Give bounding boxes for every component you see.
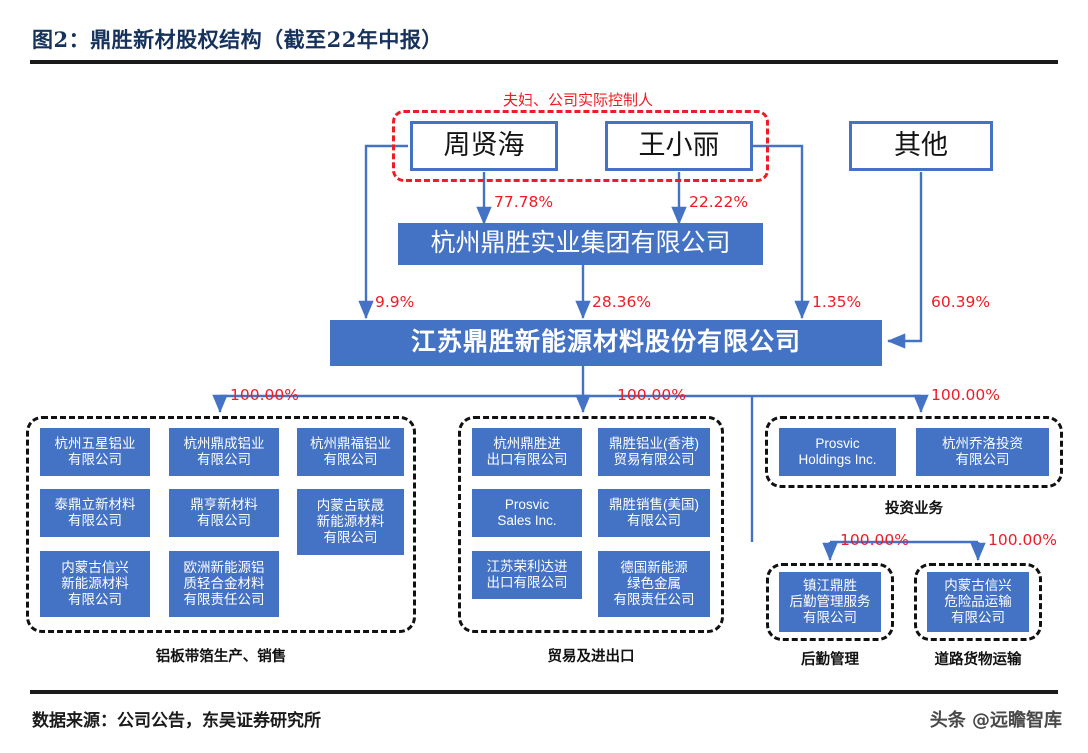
pct-zhou-to-holdco: 77.78% [494,193,553,211]
pct-to-transport: 100.00% [988,531,1057,549]
group-caption-trade: 贸易及进出口 [458,645,724,666]
company-box[interactable]: 镇江鼎胜后勤管理服务有限公司 [779,572,881,632]
company-box[interactable]: 江苏荣利达进出口有限公司 [472,551,582,599]
listed-company-box[interactable]: 江苏鼎胜新能源材料股份有限公司 [330,320,882,366]
company-box[interactable]: 德国新能源绿色金属有限责任公司 [598,551,710,617]
company-box[interactable]: 内蒙古联晟新能源材料有限公司 [297,489,404,555]
company-box[interactable]: ProsvicSales Inc. [472,489,582,537]
company-box[interactable]: 内蒙古信兴危险品运输有限公司 [927,572,1029,632]
pct-to-trade: 100.00% [617,386,686,404]
pct-wang-to-holdco: 22.22% [689,193,748,211]
company-box[interactable]: ProsvicHoldings Inc. [779,428,896,476]
company-box[interactable]: 欧洲新能源铝质轻合金材料有限责任公司 [169,551,279,617]
company-box[interactable]: 杭州五星铝业有限公司 [40,428,150,476]
person-box-zhou[interactable]: 周贤海 [410,121,558,171]
company-box[interactable]: 鼎胜销售(美国)有限公司 [598,489,710,537]
company-box[interactable]: 泰鼎立新材料有限公司 [40,489,150,537]
person-box-wang[interactable]: 王小丽 [605,121,753,171]
pct-to-logistics: 100.00% [840,531,909,549]
watermark-label: 头条 @远瞻智库 [930,706,1062,732]
company-box[interactable]: 内蒙古信兴新能源材料有限公司 [40,551,150,617]
group-caption-logistics: 后勤管理 [766,648,894,669]
pct-to-investment: 100.00% [931,386,1000,404]
company-box[interactable]: 杭州乔洛投资有限公司 [916,428,1049,476]
pct-to-manufacturing: 100.00% [230,386,299,404]
company-box[interactable]: 杭州鼎福铝业有限公司 [297,428,404,476]
pct-zhou-to-listco: 9.9% [375,293,414,311]
company-box[interactable]: 鼎胜铝业(香港)贸易有限公司 [598,428,710,476]
pct-holdco-to-listco: 28.36% [592,293,651,311]
company-box[interactable]: 杭州鼎成铝业有限公司 [169,428,279,476]
group-caption-investment: 投资业务 [765,497,1063,518]
data-source-note: 数据来源：公司公告，东吴证券研究所 [32,706,321,731]
group-caption-transport: 道路货物运输 [914,648,1042,669]
control-group-label: 夫妇、公司实际控制人 [503,89,653,110]
group-caption-manufacturing: 铝板带箔生产、销售 [26,645,416,666]
holding-company-box[interactable]: 杭州鼎胜实业集团有限公司 [398,223,763,265]
other-shareholder-box[interactable]: 其他 [849,121,993,171]
figure-root: 图2：鼎胜新材股权结构（截至22年中报） [0,0,1088,753]
company-box[interactable]: 鼎亨新材料有限公司 [169,489,279,537]
pct-wang-to-listco: 1.35% [812,293,861,311]
footer-divider [30,690,1058,694]
pct-other-to-listco: 60.39% [931,293,990,311]
company-box[interactable]: 杭州鼎胜进出口有限公司 [472,428,582,476]
